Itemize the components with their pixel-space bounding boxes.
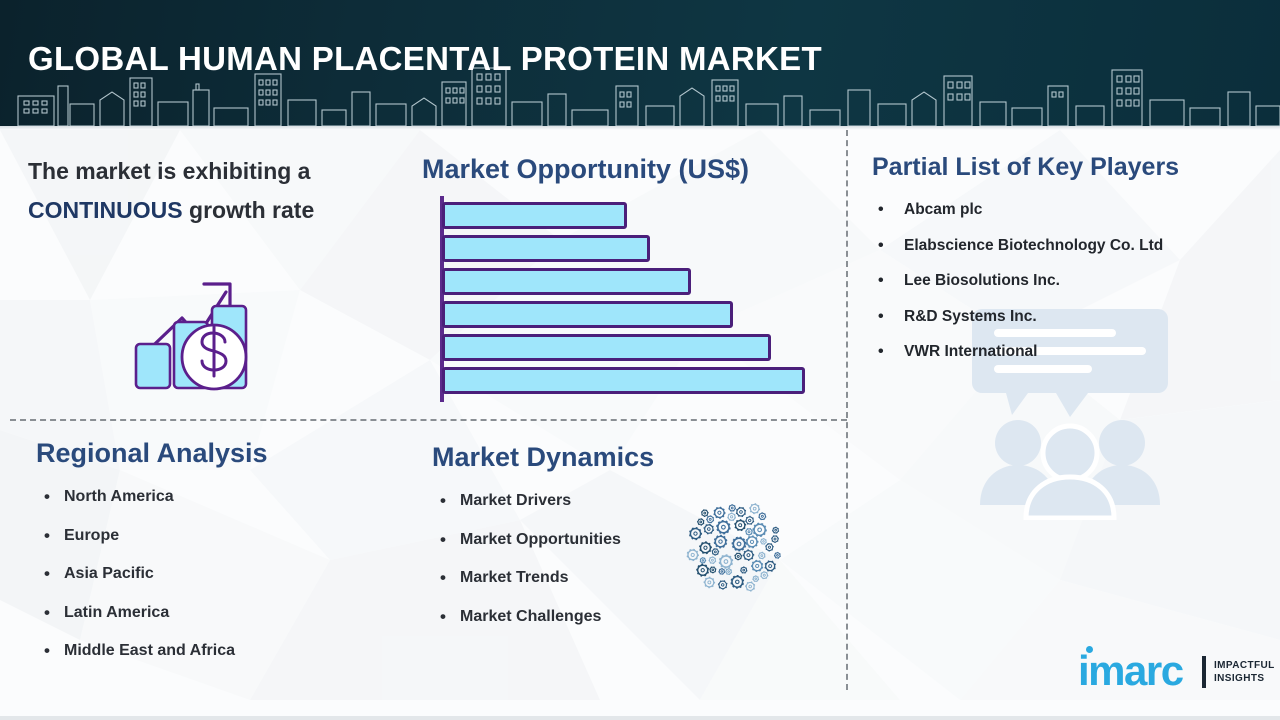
growth-bar-chart-dollar-icon (130, 262, 280, 392)
bar-5 (442, 334, 771, 361)
logo-tagline: IMPACTFUL INSIGHTS (1214, 659, 1275, 685)
header-banner: GLOBAL HUMAN PLACENTAL PROTEIN MARKET (0, 0, 1280, 126)
infographic-page: GLOBAL HUMAN PLACENTAL PROTEIN MARKET Th… (0, 0, 1280, 720)
regional-analysis-title: Regional Analysis (36, 434, 436, 472)
list-item: Market Opportunities (432, 521, 712, 560)
list-item: Elabscience Biotechnology Co. Ltd (872, 228, 1272, 264)
list-item: VWR International (872, 334, 1272, 370)
logo-dot-icon (1086, 646, 1093, 653)
list-item: R&D Systems Inc. (872, 299, 1272, 335)
market-dynamics-panel: Market Dynamics Market Drivers Market Op… (432, 438, 712, 636)
list-item: Europe (36, 517, 436, 556)
statement-line-2-rest: growth rate (183, 197, 315, 223)
bar-6 (442, 367, 805, 394)
logo-tagline-line-1: IMPACTFUL (1214, 659, 1275, 672)
list-item: Lee Biosolutions Inc. (872, 263, 1272, 299)
list-item: Latin America (36, 594, 436, 633)
regional-analysis-list: North America Europe Asia Pacific Latin … (36, 478, 436, 671)
bar-3 (442, 268, 691, 295)
list-item: Abcam plc (872, 192, 1272, 228)
logo-tagline-line-2: INSIGHTS (1214, 672, 1275, 685)
header-shadow (0, 126, 1280, 130)
logo-divider-bar (1202, 656, 1206, 688)
bar-4 (442, 301, 733, 328)
list-item: Middle East and Africa (36, 632, 436, 671)
market-dynamics-list: Market Drivers Market Opportunities Mark… (432, 482, 712, 636)
imarc-logo: imarc IMPACTFUL INSIGHTS (1078, 650, 1183, 692)
divider-horizontal (10, 419, 847, 421)
bar-1 (442, 202, 627, 229)
key-players-panel: Partial List of Key Players Abcam plc El… (872, 150, 1272, 370)
divider-vertical (846, 130, 848, 690)
bar-2 (442, 235, 650, 262)
market-opportunity-chart: Market Opportunity (US$) (422, 150, 842, 408)
page-title: GLOBAL HUMAN PLACENTAL PROTEIN MARKET (28, 40, 822, 78)
list-item: Market Drivers (432, 482, 712, 521)
key-players-title: Partial List of Key Players (872, 150, 1272, 184)
chart-title: Market Opportunity (US$) (422, 150, 842, 188)
list-item: Market Challenges (432, 598, 712, 637)
logo-wordmark: imarc (1078, 650, 1183, 692)
gear-cluster-icon (682, 495, 786, 599)
market-dynamics-title: Market Dynamics (432, 438, 712, 476)
chart-plot-area (422, 196, 842, 408)
statement-line-1: The market is exhibiting a (28, 152, 418, 191)
growth-statement: The market is exhibiting a CONTINUOUS gr… (28, 152, 418, 230)
statement-line-2: CONTINUOUS growth rate (28, 191, 418, 230)
key-players-list: Abcam plc Elabscience Biotechnology Co. … (872, 192, 1272, 370)
statement-accent-word: CONTINUOUS (28, 197, 183, 223)
list-item: Market Trends (432, 559, 712, 598)
list-item: Asia Pacific (36, 555, 436, 594)
list-item: North America (36, 478, 436, 517)
regional-analysis-panel: Regional Analysis North America Europe A… (36, 434, 436, 671)
footer-rule (0, 716, 1280, 720)
